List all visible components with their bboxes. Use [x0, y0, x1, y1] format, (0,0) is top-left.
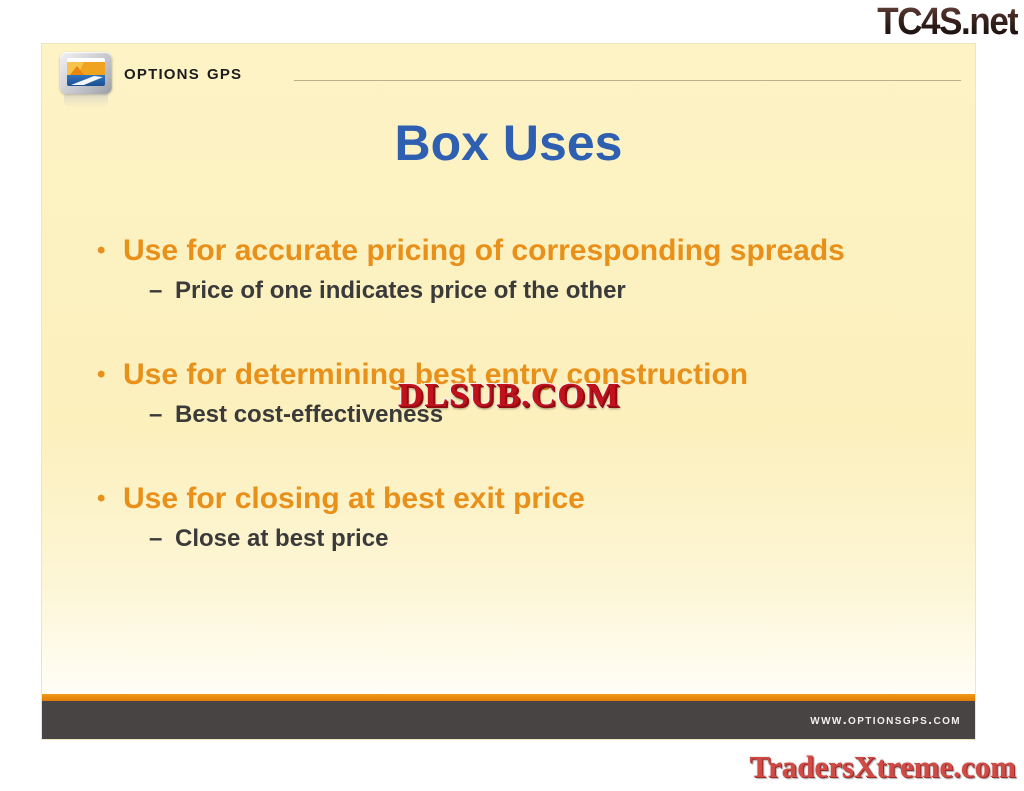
- bullet-subtext: Close at best price: [175, 521, 945, 557]
- slide-header: Options GPS: [42, 44, 975, 106]
- bullet-marker-icon: •: [97, 477, 123, 521]
- dash-marker-icon: –: [149, 273, 175, 309]
- bullet-item-primary: • Use for closing at best exit price: [97, 477, 945, 521]
- bullet-subtext: Best cost-effectiveness: [175, 397, 945, 433]
- gps-device-icon: [60, 52, 112, 94]
- bullet-text: Use for closing at best exit price: [123, 477, 945, 521]
- slide-canvas: Options GPS Box Uses • Use for accurate …: [42, 44, 975, 739]
- spacer: [97, 309, 945, 353]
- bullet-marker-icon: •: [97, 353, 123, 397]
- bullet-list: • Use for accurate pricing of correspond…: [97, 229, 945, 557]
- footer-url: www.OptionsGPS.com: [810, 711, 961, 727]
- bullet-marker-icon: •: [97, 229, 123, 273]
- page-title: Box Uses: [42, 114, 975, 172]
- bullet-item-primary: • Use for determining best entry constru…: [97, 353, 945, 397]
- brand-logo-text: Options GPS: [124, 61, 242, 85]
- brand-logo: Options GPS: [60, 52, 242, 94]
- bullet-group-1: • Use for accurate pricing of correspond…: [97, 229, 945, 309]
- bullet-item-secondary: – Best cost-effectiveness: [149, 397, 945, 433]
- dash-marker-icon: –: [149, 397, 175, 433]
- footer-bar: www.OptionsGPS.com: [42, 701, 975, 739]
- spacer: [97, 433, 945, 477]
- bullet-item-secondary: – Close at best price: [149, 521, 945, 557]
- bullet-text: Use for accurate pricing of correspondin…: [123, 229, 945, 273]
- dash-marker-icon: –: [149, 521, 175, 557]
- header-divider: [294, 80, 961, 81]
- bullet-text: Use for determining best entry construct…: [123, 353, 945, 397]
- footer-accent-bar: [42, 694, 975, 701]
- tradersxtreme-watermark: TradersXtreme.com: [749, 749, 1016, 785]
- bullet-item-secondary: – Price of one indicates price of the ot…: [149, 273, 945, 309]
- bullet-subtext: Price of one indicates price of the othe…: [175, 273, 945, 309]
- bullet-item-primary: • Use for accurate pricing of correspond…: [97, 229, 945, 273]
- tc4s-brand: TC4S.net: [878, 2, 1018, 42]
- bullet-group-2: • Use for determining best entry constru…: [97, 353, 945, 433]
- bullet-group-3: • Use for closing at best exit price – C…: [97, 477, 945, 557]
